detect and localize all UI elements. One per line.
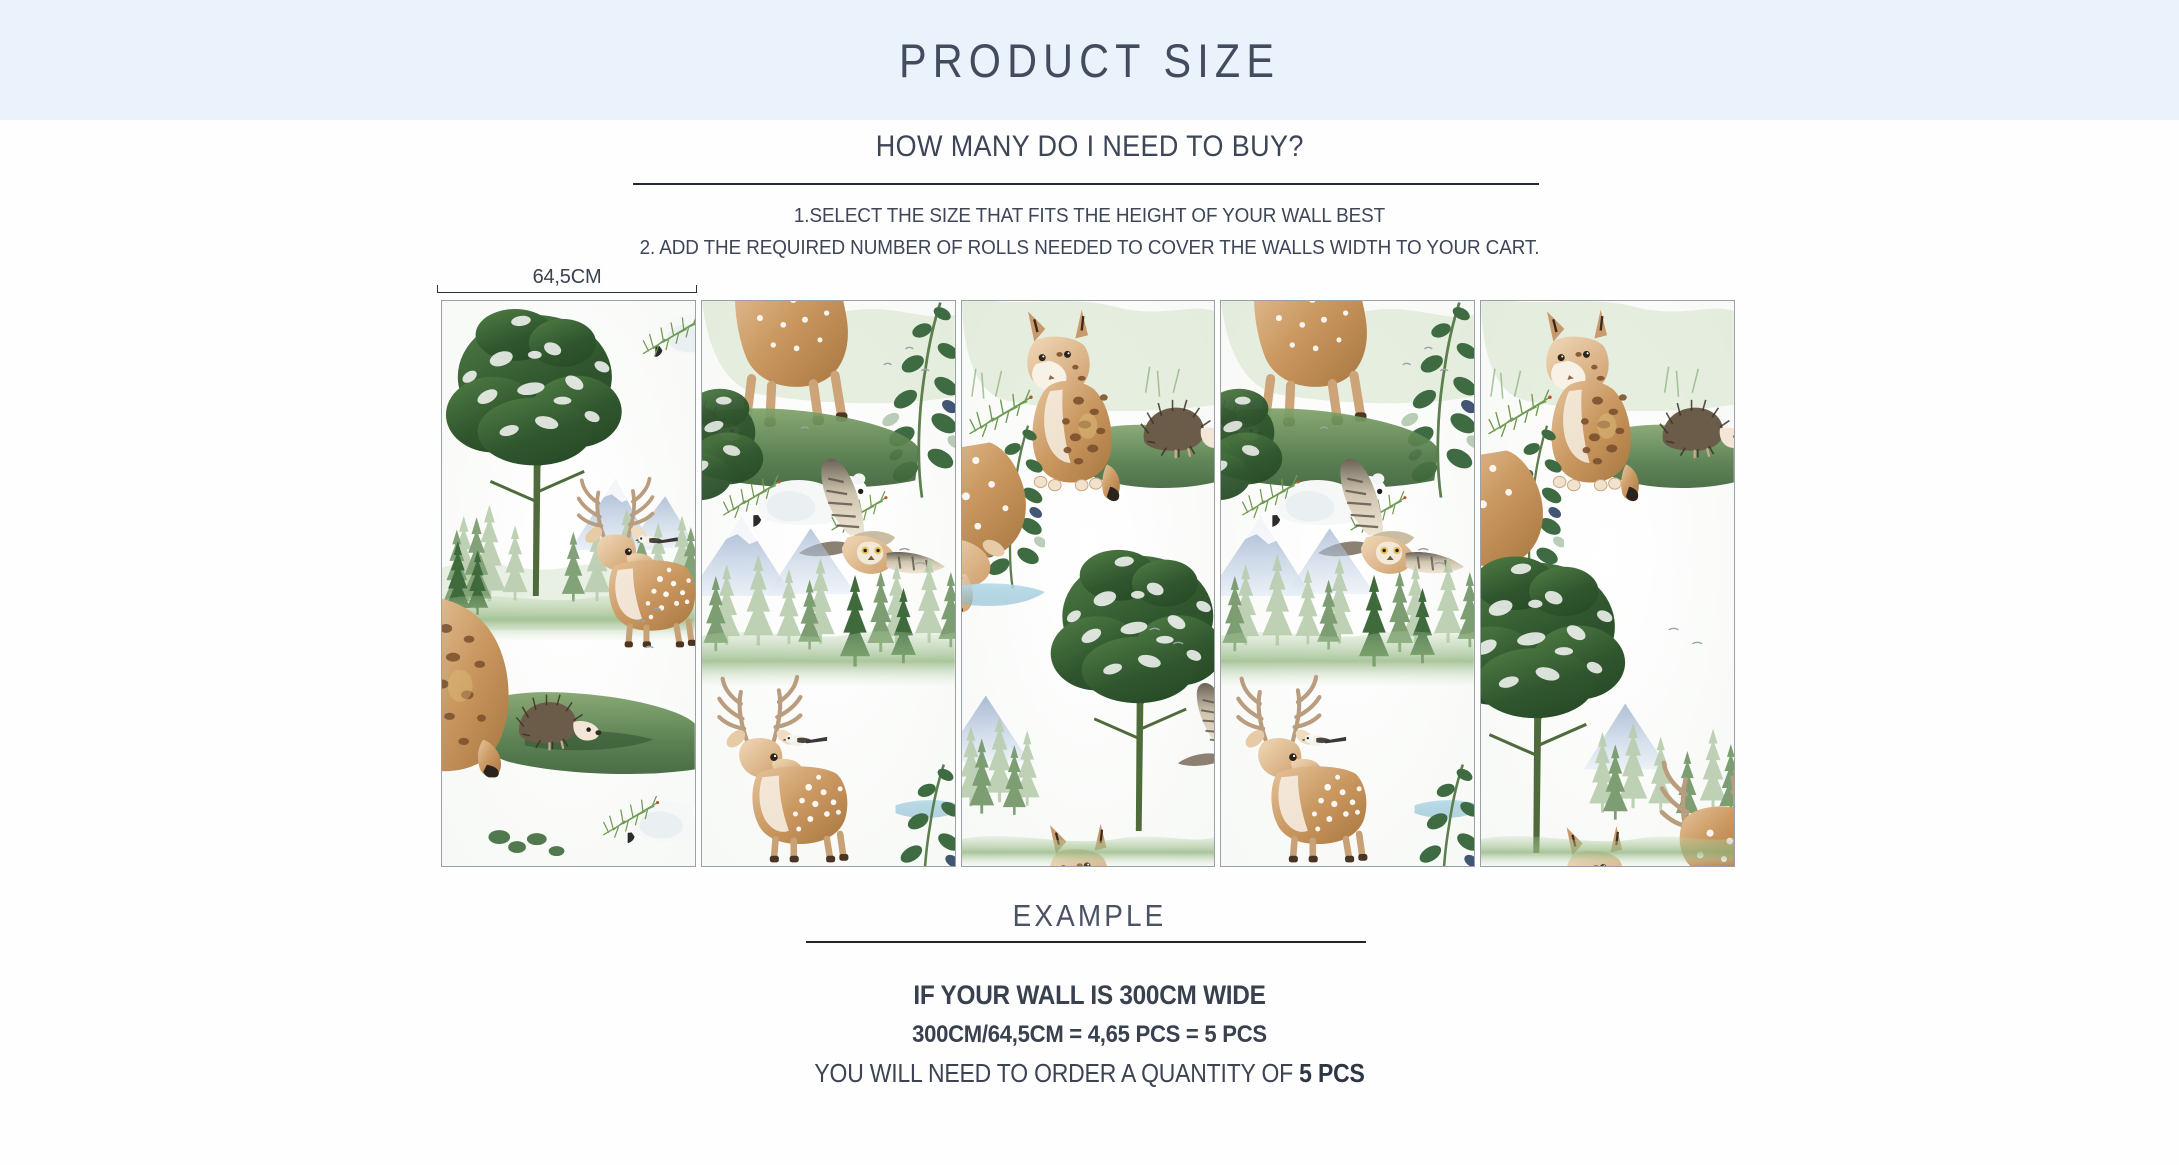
panel-4-artwork: [1221, 301, 1474, 866]
example-conclusion-prefix: YOU WILL NEED TO ORDER A QUANTITY OF: [814, 1060, 1299, 1088]
intro-heading: HOW MANY DO I NEED TO BUY?: [876, 130, 1304, 164]
intro-step-2: 2. ADD THE REQUIRED NUMBER OF ROLLS NEED…: [87, 232, 2092, 264]
intro-steps: 1.SELECT THE SIZE THAT FITS THE HEIGHT O…: [0, 200, 2179, 264]
dimension-tick-right: [696, 285, 697, 293]
wallpaper-panel-strip: [441, 300, 1735, 867]
wallpaper-panel-3[interactable]: [961, 300, 1216, 867]
example-heading: EXAMPLE: [109, 898, 2070, 934]
page-title: PRODUCT SIZE: [899, 33, 1280, 88]
example-calculation: IF YOUR WALL IS 300CM WIDE 300CM/64,5CM …: [0, 975, 2179, 1055]
product-size-page: PRODUCT SIZE HOW MANY DO I NEED TO BUY? …: [0, 0, 2179, 1165]
dimension-line: [437, 292, 697, 293]
roll-width-label: 64,5CM: [437, 266, 697, 289]
example-conclusion: YOU WILL NEED TO ORDER A QUANTITY OF 5 P…: [109, 1060, 2070, 1089]
panel-2-artwork: [702, 301, 955, 866]
panel-1-artwork: [442, 301, 695, 866]
wallpaper-panel-5[interactable]: [1480, 300, 1735, 867]
example-divider: [806, 941, 1366, 943]
example-line-1: IF YOUR WALL IS 300CM WIDE: [87, 975, 2092, 1015]
panel-3-artwork: [962, 301, 1215, 866]
intro-divider: [633, 183, 1539, 185]
wallpaper-panel-2[interactable]: [701, 300, 956, 867]
header-band: PRODUCT SIZE: [0, 0, 2179, 120]
example-line-2: 300CM/64,5CM = 4,65 PCS = 5 PCS: [87, 1015, 2092, 1055]
panel-5-artwork: [1481, 301, 1734, 866]
dimension-tick-left: [437, 285, 438, 293]
wallpaper-panel-4[interactable]: [1220, 300, 1475, 867]
intro-section: HOW MANY DO I NEED TO BUY?: [0, 130, 2179, 164]
intro-step-1: 1.SELECT THE SIZE THAT FITS THE HEIGHT O…: [87, 200, 2092, 232]
example-conclusion-quantity: 5 PCS: [1299, 1060, 1364, 1088]
wallpaper-panel-1[interactable]: [441, 300, 696, 867]
